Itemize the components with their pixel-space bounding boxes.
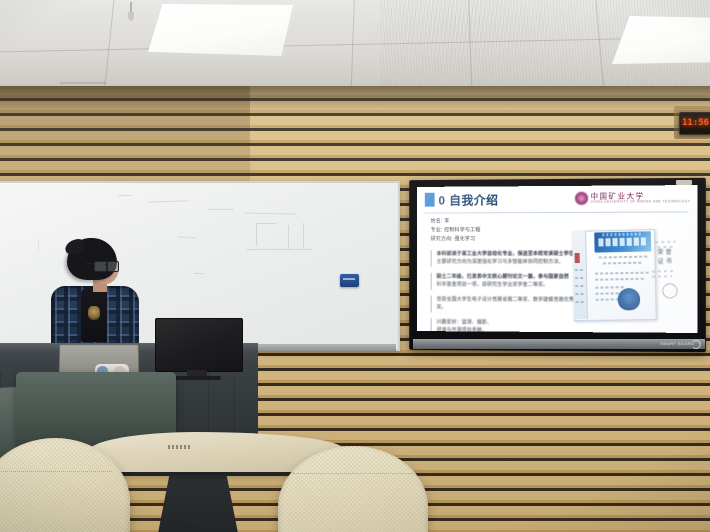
tshirt-print: [88, 306, 100, 320]
slide-paragraph-line: 本科就读于某工业大学自动化专业，保送至本校攻读硕士学位，: [437, 250, 585, 259]
eyeglasses-icon: [94, 261, 119, 270]
blue-magnet-icon: [340, 274, 359, 287]
slide-paragraph: 本科就读于某工业大学自动化专业，保送至本校攻读硕士学位， 主要研究方向为深度强化…: [431, 250, 584, 267]
ceiling-light-left: [148, 4, 293, 56]
slide-header-divider: [425, 211, 689, 213]
slide-title-accent-bullet: [425, 193, 435, 207]
table-brand-mark: [168, 445, 190, 449]
slide-paragraph: 硕士二年级，已发表中文核心期刊论文一篇，参与国家自然 科学基金项目一项，获研究生…: [431, 273, 584, 290]
desktop-monitor: [155, 318, 241, 380]
slide-meta-line: 姓名: 李: [431, 217, 584, 226]
university-name-en: CHINA UNIVERSITY OF MINING AND TECHNOLOG…: [591, 200, 691, 204]
slide-body: 姓名: 李 专业: 控制科学与工程 研究方向: 强化学习 本科就读于某工业大学自…: [431, 217, 584, 333]
slide-meta-line: 研究方向: 强化学习: [431, 235, 584, 244]
certificate-side-text: 荣誉证书: [657, 247, 678, 266]
slide-header: 0 自我介绍 中国矿业大学 CHINA UNIVERSITY OF MINING…: [417, 185, 698, 214]
display-power-led-icon: [691, 340, 700, 349]
led-clock-time: 11:56: [682, 118, 709, 128]
slide-paragraph-line: 曾获全国大学生电子设计竞赛省赛二等奖、数学建模竞赛优秀奖。: [437, 295, 585, 313]
display-bottom-bezel: SMART BOARD: [413, 339, 705, 349]
slide-title: 0 自我介绍: [438, 191, 498, 208]
led-clock-display: 11:56: [679, 112, 710, 135]
wall-mounted-display[interactable]: 0 自我介绍 中国矿业大学 CHINA UNIVERSITY OF MINING…: [407, 179, 704, 351]
award-certificate-image: 荣誉证书: [572, 225, 679, 323]
classroom-photo-scene: 11:56: [0, 0, 710, 532]
sprinkler-head-icon: [128, 2, 134, 22]
slide-paragraph-line: 主要研究方向为深度强化学习与多智能体协同控制方法。: [437, 258, 585, 267]
university-logo: 中国矿业大学 CHINA UNIVERSITY OF MINING AND TE…: [575, 189, 691, 207]
slide-paragraph-line: 科学基金项目一项，获研究生学业奖学金二等奖。: [437, 281, 585, 290]
university-emblem-icon: [575, 192, 588, 205]
presentation-slide: 0 自我介绍 中国矿业大学 CHINA UNIVERSITY OF MINING…: [417, 185, 698, 333]
display-screen[interactable]: 0 自我介绍 中国矿业大学 CHINA UNIVERSITY OF MINING…: [417, 185, 698, 333]
display-brand-text: SMART BOARD: [660, 341, 694, 346]
slide-paragraph: 曾获全国大学生电子设计竞赛省赛二等奖、数学建模竞赛优秀奖。: [431, 295, 584, 313]
slide-paragraph: 兴趣爱好：篮球、摄影、 阅读与开源项目贡献。: [431, 318, 584, 333]
slide-meta-line: 专业: 控制科学与工程: [431, 226, 584, 235]
slide-paragraph-line: 硕士二年级，已发表中文核心期刊论文一篇，参与国家自然: [437, 273, 585, 282]
